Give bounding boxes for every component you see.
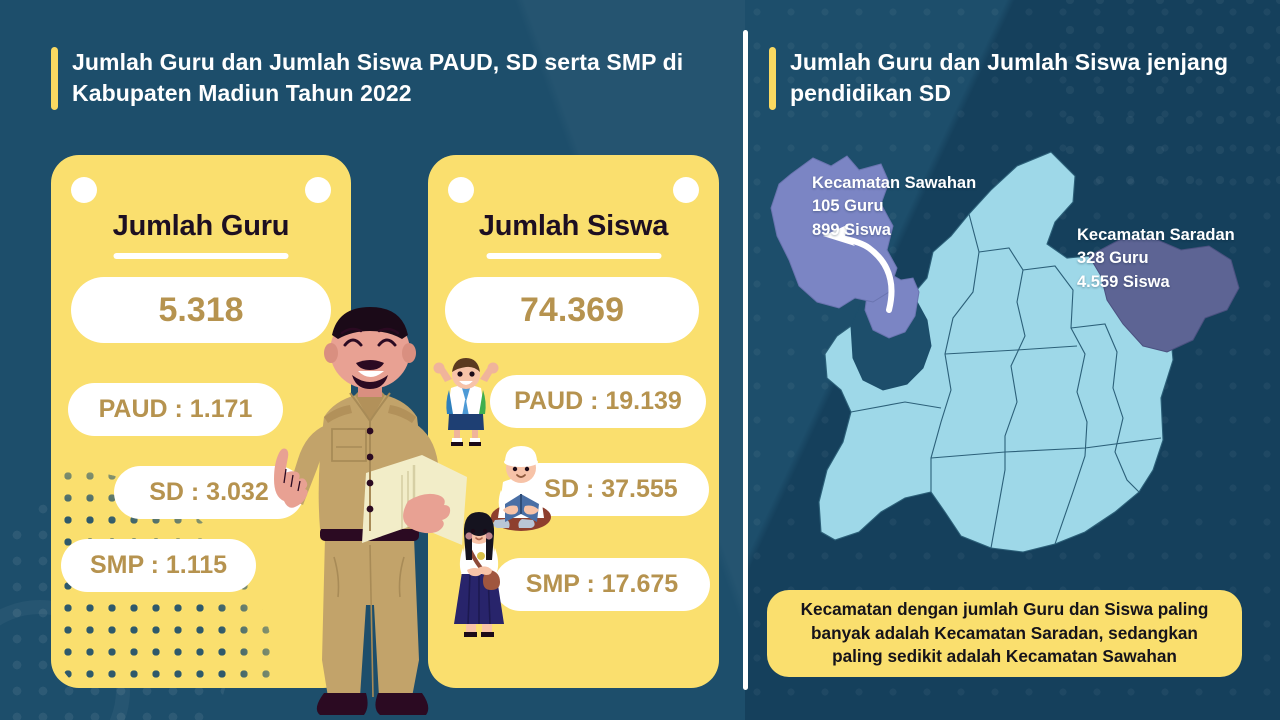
right-panel-title-text: Jumlah Guru dan Jumlah Siswa jenjang pen… [790,47,1229,110]
card-punch-hole-left-icon [71,177,97,203]
right-panel-title: Jumlah Guru dan Jumlah Siswa jenjang pen… [769,47,1229,110]
stat-row-siswa-smp: SMP : 17.675 [494,558,710,611]
title-accent-bar-left [51,47,58,110]
panel-divider [743,30,748,690]
student-smp-illustration [448,510,510,640]
card-heading-jumlah-siswa: Jumlah Siswa [428,210,719,243]
card-heading-underline [486,253,661,259]
map-label-sawahan-name: Kecamatan Sawahan [812,172,976,195]
card-punch-hole-left-icon [448,177,474,203]
left-panel-title-text: Jumlah Guru dan Jumlah Siswa PAUD, SD se… [72,47,711,110]
stat-row-guru-smp: SMP : 1.115 [61,539,256,592]
map-label-saradan-guru: 328 Guru [1077,247,1235,270]
stat-row-guru-paud: PAUD : 1.171 [68,383,283,436]
left-panel-title: Jumlah Guru dan Jumlah Siswa PAUD, SD se… [51,47,711,110]
stat-row-siswa-paud: PAUD : 19.139 [490,375,706,428]
title-accent-bar-right [769,47,776,110]
map-label-sawahan-siswa: 899 Siswa [812,219,976,242]
map-label-saradan-siswa: 4.559 Siswa [1077,271,1235,294]
stat-total-jumlah-siswa: 74.369 [445,277,699,343]
map-label-saradan: Kecamatan Saradan 328 Guru 4.559 Siswa [1077,224,1235,294]
map-label-sawahan-guru: 105 Guru [812,195,976,218]
map-label-sawahan: Kecamatan Sawahan 105 Guru 899 Siswa [812,172,976,242]
card-heading-jumlah-guru: Jumlah Guru [51,210,351,243]
student-paud-illustration [432,358,500,448]
map-label-saradan-name: Kecamatan Saradan [1077,224,1235,247]
map-summary-note: Kecamatan dengan jumlah Guru dan Siswa p… [767,590,1242,677]
infographic-canvas: Jumlah Guru dan Jumlah Siswa PAUD, SD se… [0,0,1280,720]
card-heading-underline [114,253,289,259]
card-punch-hole-right-icon [305,177,331,203]
card-punch-hole-right-icon [673,177,699,203]
